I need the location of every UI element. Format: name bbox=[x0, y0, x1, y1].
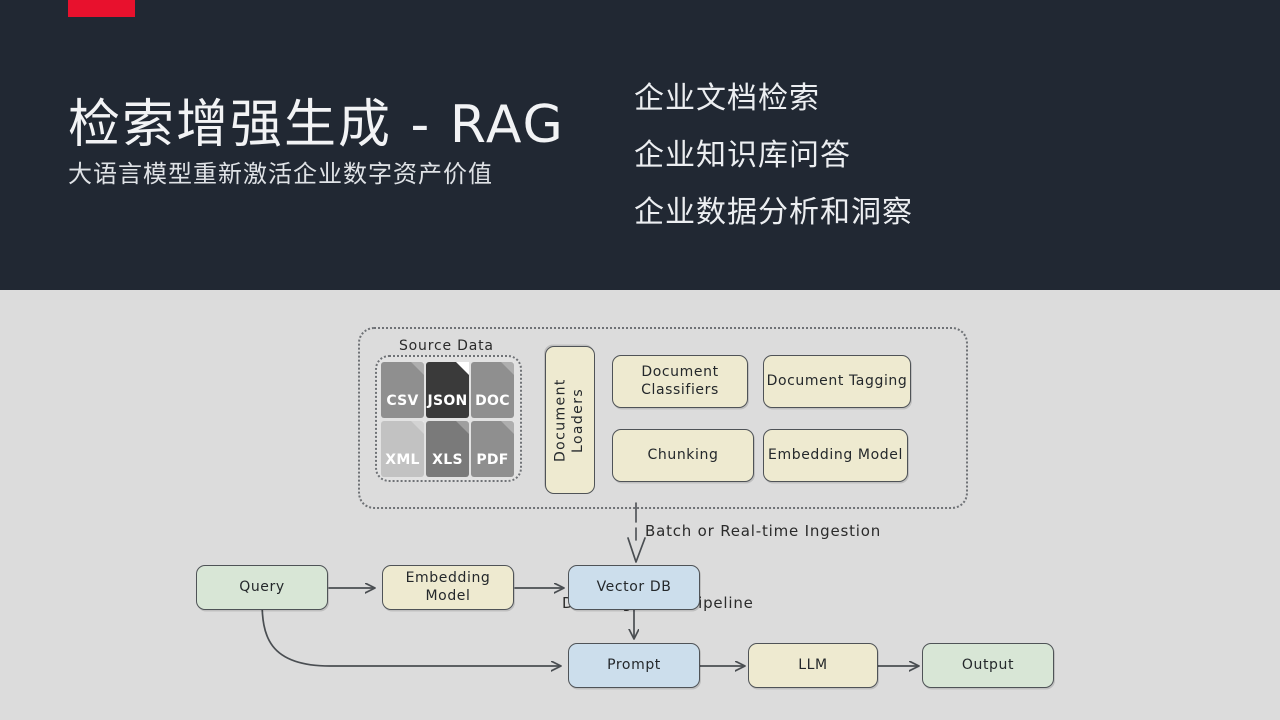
file-icon-doc[interactable]: DOC bbox=[471, 362, 514, 418]
node-document-loaders[interactable]: Document Loaders bbox=[545, 346, 595, 494]
node-chunking[interactable]: Chunking bbox=[612, 429, 754, 482]
file-icon-label: DOC bbox=[475, 393, 510, 409]
file-icon-xml[interactable]: XML bbox=[381, 421, 424, 477]
page-fold-icon bbox=[411, 421, 424, 434]
page-fold-icon bbox=[456, 362, 469, 375]
node-label: Document Classifiers bbox=[613, 364, 747, 399]
file-icon-label: PDF bbox=[476, 452, 508, 468]
node-document-tagging[interactable]: Document Tagging bbox=[763, 355, 911, 408]
file-icon-label: XLS bbox=[432, 452, 463, 468]
ingestion-arrow-label: Batch or Real-time Ingestion bbox=[645, 522, 881, 540]
bullet-item-2: 企业知识库问答 bbox=[634, 127, 1194, 184]
node-label: Output bbox=[962, 657, 1014, 675]
node-label: Embedding Model bbox=[768, 447, 903, 465]
slide-header: 检索增强生成 - RAG 大语言模型重新激活企业数字资产价值 企业文档检索 企业… bbox=[0, 0, 1280, 290]
file-icon-label: JSON bbox=[427, 393, 467, 409]
source-data-label: Source Data bbox=[399, 338, 494, 354]
page-fold-icon bbox=[411, 362, 424, 375]
file-icon-label: XML bbox=[385, 452, 420, 468]
file-icon-pdf[interactable]: PDF bbox=[471, 421, 514, 477]
node-label: Query bbox=[239, 579, 285, 597]
node-llm[interactable]: LLM bbox=[748, 643, 878, 688]
page-fold-icon bbox=[501, 362, 514, 375]
file-icon-label: CSV bbox=[386, 393, 418, 409]
file-icon-json[interactable]: JSON bbox=[426, 362, 469, 418]
bullet-item-3: 企业数据分析和洞察 bbox=[634, 184, 1194, 241]
node-query[interactable]: Query bbox=[196, 565, 328, 610]
node-label: Document Loaders bbox=[553, 347, 588, 493]
file-icon-csv[interactable]: CSV bbox=[381, 362, 424, 418]
node-label: Document Tagging bbox=[767, 373, 908, 391]
node-document-classifiers[interactable]: Document Classifiers bbox=[612, 355, 748, 408]
bullet-item-1: 企业文档检索 bbox=[634, 70, 1194, 127]
rag-architecture-diagram: Data Ingestion Pipeline Source Data CSV … bbox=[0, 290, 1280, 720]
title-block: 检索增强生成 - RAG 大语言模型重新激活企业数字资产价值 bbox=[68, 96, 628, 189]
node-label: Prompt bbox=[607, 657, 661, 675]
node-embedding-model[interactable]: Embedding Model bbox=[382, 565, 514, 610]
page-subtitle: 大语言模型重新激活企业数字资产价值 bbox=[68, 160, 628, 189]
node-label: Chunking bbox=[648, 447, 719, 465]
node-label: Vector DB bbox=[597, 579, 672, 597]
header-bullet-list: 企业文档检索 企业知识库问答 企业数据分析和洞察 bbox=[634, 70, 1194, 241]
node-label: LLM bbox=[798, 657, 827, 675]
page-title: 检索增强生成 - RAG bbox=[68, 96, 628, 154]
page-fold-icon bbox=[501, 421, 514, 434]
file-icon-xls[interactable]: XLS bbox=[426, 421, 469, 477]
node-prompt[interactable]: Prompt bbox=[568, 643, 700, 688]
node-label: Embedding Model bbox=[383, 570, 513, 605]
node-vector-db[interactable]: Vector DB bbox=[568, 565, 700, 610]
accent-bar bbox=[68, 0, 135, 17]
slide-root: 检索增强生成 - RAG 大语言模型重新激活企业数字资产价值 企业文档检索 企业… bbox=[0, 0, 1280, 720]
page-fold-icon bbox=[456, 421, 469, 434]
node-embedding-model-pipeline[interactable]: Embedding Model bbox=[763, 429, 908, 482]
node-output[interactable]: Output bbox=[922, 643, 1054, 688]
